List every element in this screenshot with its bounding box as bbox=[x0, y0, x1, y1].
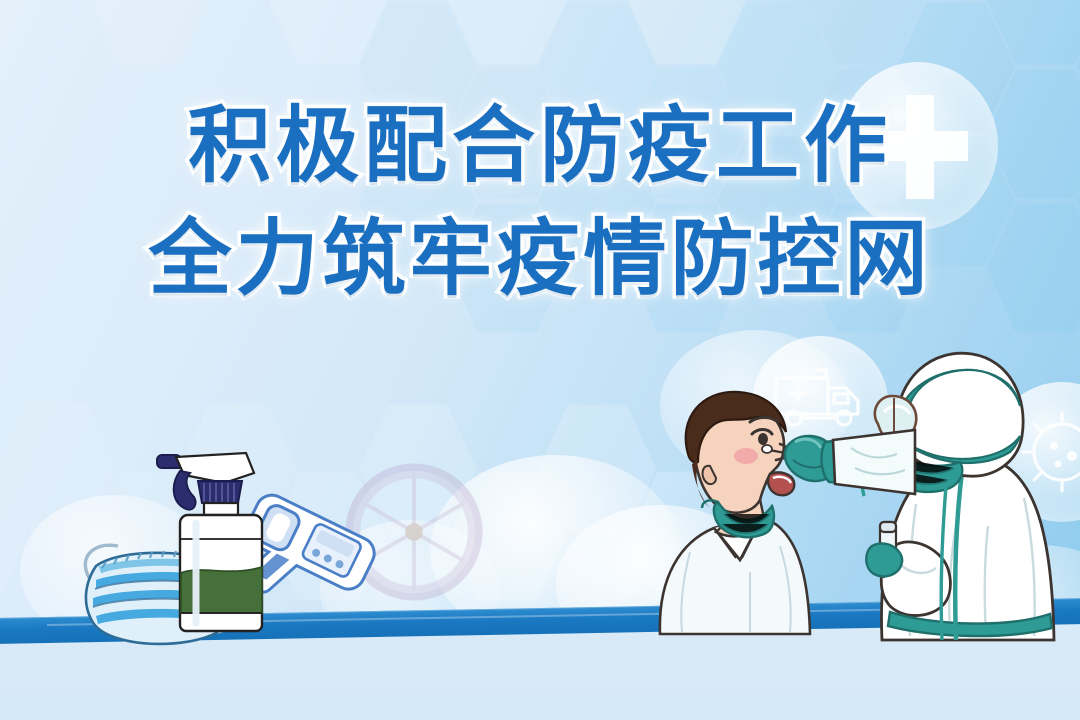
poster-canvas: 积极配合防疫工作 全力筑牢疫情防控网 bbox=[0, 0, 1080, 720]
headline-block: 积极配合防疫工作 全力筑牢疫情防控网 bbox=[0, 104, 1080, 301]
headline-line-2: 全力筑牢疫情防控网 bbox=[0, 217, 1080, 302]
headline-line-1: 积极配合防疫工作 bbox=[0, 104, 1080, 189]
disinfectant-spray-bottle bbox=[150, 443, 270, 638]
swab-in-gloved-hand bbox=[755, 414, 915, 524]
